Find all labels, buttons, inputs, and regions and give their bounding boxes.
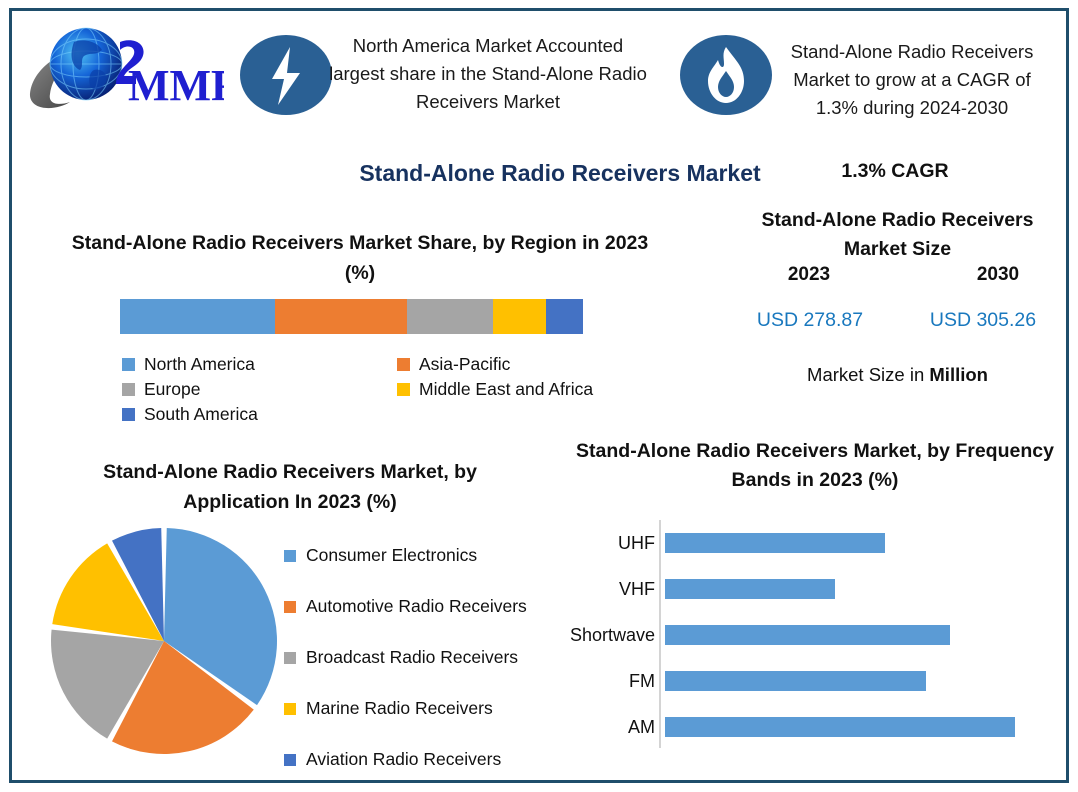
legend-item-aviation-radio-receivers: Aviation Radio Receivers [284, 734, 564, 785]
legend-label-automotive-radio-receivers: Automotive Radio Receivers [306, 596, 527, 617]
region-segment-north-america [120, 299, 275, 334]
legend-label-asia-pacific: Asia-Pacific [419, 354, 510, 375]
bar-row-fm: FM [560, 658, 1060, 704]
flame-icon [680, 35, 772, 115]
bar-label-uhf: UHF [560, 533, 661, 554]
region-segment-asia-pacific [275, 299, 407, 334]
region-segment-middle-east-africa [493, 299, 546, 334]
frequency-bar-title: Stand-Alone Radio Receivers Market, by F… [565, 437, 1065, 495]
legend-swatch-broadcast-radio-receivers [284, 652, 296, 664]
legend-label-consumer-electronics: Consumer Electronics [306, 545, 477, 566]
region-legend: North America Asia-Pacific Europe Middle… [122, 352, 622, 427]
legend-label-broadcast-radio-receivers: Broadcast Radio Receivers [306, 647, 518, 668]
legend-row: Europe Middle East and Africa [122, 377, 622, 402]
legend-item-automotive-radio-receivers: Automotive Radio Receivers [284, 581, 564, 632]
bar-row-uhf: UHF [560, 520, 1060, 566]
application-pie-legend: Consumer Electronics Automotive Radio Re… [284, 530, 564, 785]
legend-label-europe: Europe [144, 379, 200, 400]
legend-label-middle-east-africa: Middle East and Africa [419, 379, 593, 400]
region-share-title: Stand-Alone Radio Receivers Market Share… [60, 228, 660, 288]
market-size-title: Stand-Alone Radio Receivers Market Size [730, 206, 1065, 264]
header-highlight-1-text: North America Market Accounted largest s… [328, 32, 648, 116]
legend-swatch-middle-east-africa [397, 383, 410, 396]
region-segment-south-america [546, 299, 583, 334]
application-pie-title: Stand-Alone Radio Receivers Market, by A… [55, 457, 525, 517]
region-share-stacked-bar [120, 299, 583, 334]
legend-item-asia-pacific: Asia-Pacific [397, 354, 510, 375]
bar-fill-am [665, 717, 1015, 737]
bar-fill-shortwave [665, 625, 950, 645]
legend-swatch-europe [122, 383, 135, 396]
legend-item-broadcast-radio-receivers: Broadcast Radio Receivers [284, 632, 564, 683]
legend-swatch-consumer-electronics [284, 550, 296, 562]
legend-item-consumer-electronics: Consumer Electronics [284, 530, 564, 581]
frequency-bar-chart: UHF VHF Shortwave FM AM [560, 520, 1060, 750]
legend-row: South America [122, 402, 622, 427]
legend-swatch-south-america [122, 408, 135, 421]
bar-label-vhf: VHF [560, 579, 661, 600]
bar-label-fm: FM [560, 671, 661, 692]
lightning-bolt-icon [240, 35, 332, 115]
bar-row-shortwave: Shortwave [560, 612, 1060, 658]
legend-label-aviation-radio-receivers: Aviation Radio Receivers [306, 749, 501, 770]
market-size-unit-value: Million [929, 364, 988, 385]
legend-swatch-asia-pacific [397, 358, 410, 371]
legend-row: North America Asia-Pacific [122, 352, 622, 377]
legend-swatch-north-america [122, 358, 135, 371]
legend-item-south-america: South America [122, 404, 397, 425]
infographic-canvas: MMR North America Market Accounted large… [0, 0, 1078, 792]
market-size-forecast-value: USD 305.26 [903, 309, 1063, 332]
legend-label-south-america: South America [144, 404, 258, 425]
cagr-value: 1.3% CAGR [790, 160, 1000, 183]
legend-item-europe: Europe [122, 379, 397, 400]
region-segment-europe [407, 299, 493, 334]
legend-swatch-aviation-radio-receivers [284, 754, 296, 766]
legend-item-marine-radio-receivers: Marine Radio Receivers [284, 683, 564, 734]
legend-item-middle-east-africa: Middle East and Africa [397, 379, 593, 400]
market-size-forecast-year: 2030 [943, 264, 1053, 286]
logo-text: MMR [128, 61, 224, 110]
market-size-base-value: USD 278.87 [730, 309, 890, 332]
legend-item-north-america: North America [122, 354, 397, 375]
header-highlight-2-text: Stand-Alone Radio Receivers Market to gr… [772, 38, 1052, 122]
bar-fill-vhf [665, 579, 835, 599]
market-size-base-year: 2023 [754, 264, 864, 286]
bar-row-am: AM [560, 704, 1060, 750]
bar-label-am: AM [560, 717, 661, 738]
legend-label-north-america: North America [144, 354, 255, 375]
bar-fill-uhf [665, 533, 885, 553]
bar-fill-fm [665, 671, 926, 691]
application-pie-chart [47, 524, 282, 759]
bar-row-vhf: VHF [560, 566, 1060, 612]
legend-swatch-marine-radio-receivers [284, 703, 296, 715]
page-title: Stand-Alone Radio Receivers Market [250, 160, 870, 187]
bar-label-shortwave: Shortwave [560, 625, 661, 646]
market-size-unit-prefix: Market Size in [807, 364, 929, 385]
market-size-unit: Market Size in Million [730, 364, 1065, 386]
legend-swatch-automotive-radio-receivers [284, 601, 296, 613]
legend-label-marine-radio-receivers: Marine Radio Receivers [306, 698, 493, 719]
mmr-logo: MMR [24, 18, 224, 118]
